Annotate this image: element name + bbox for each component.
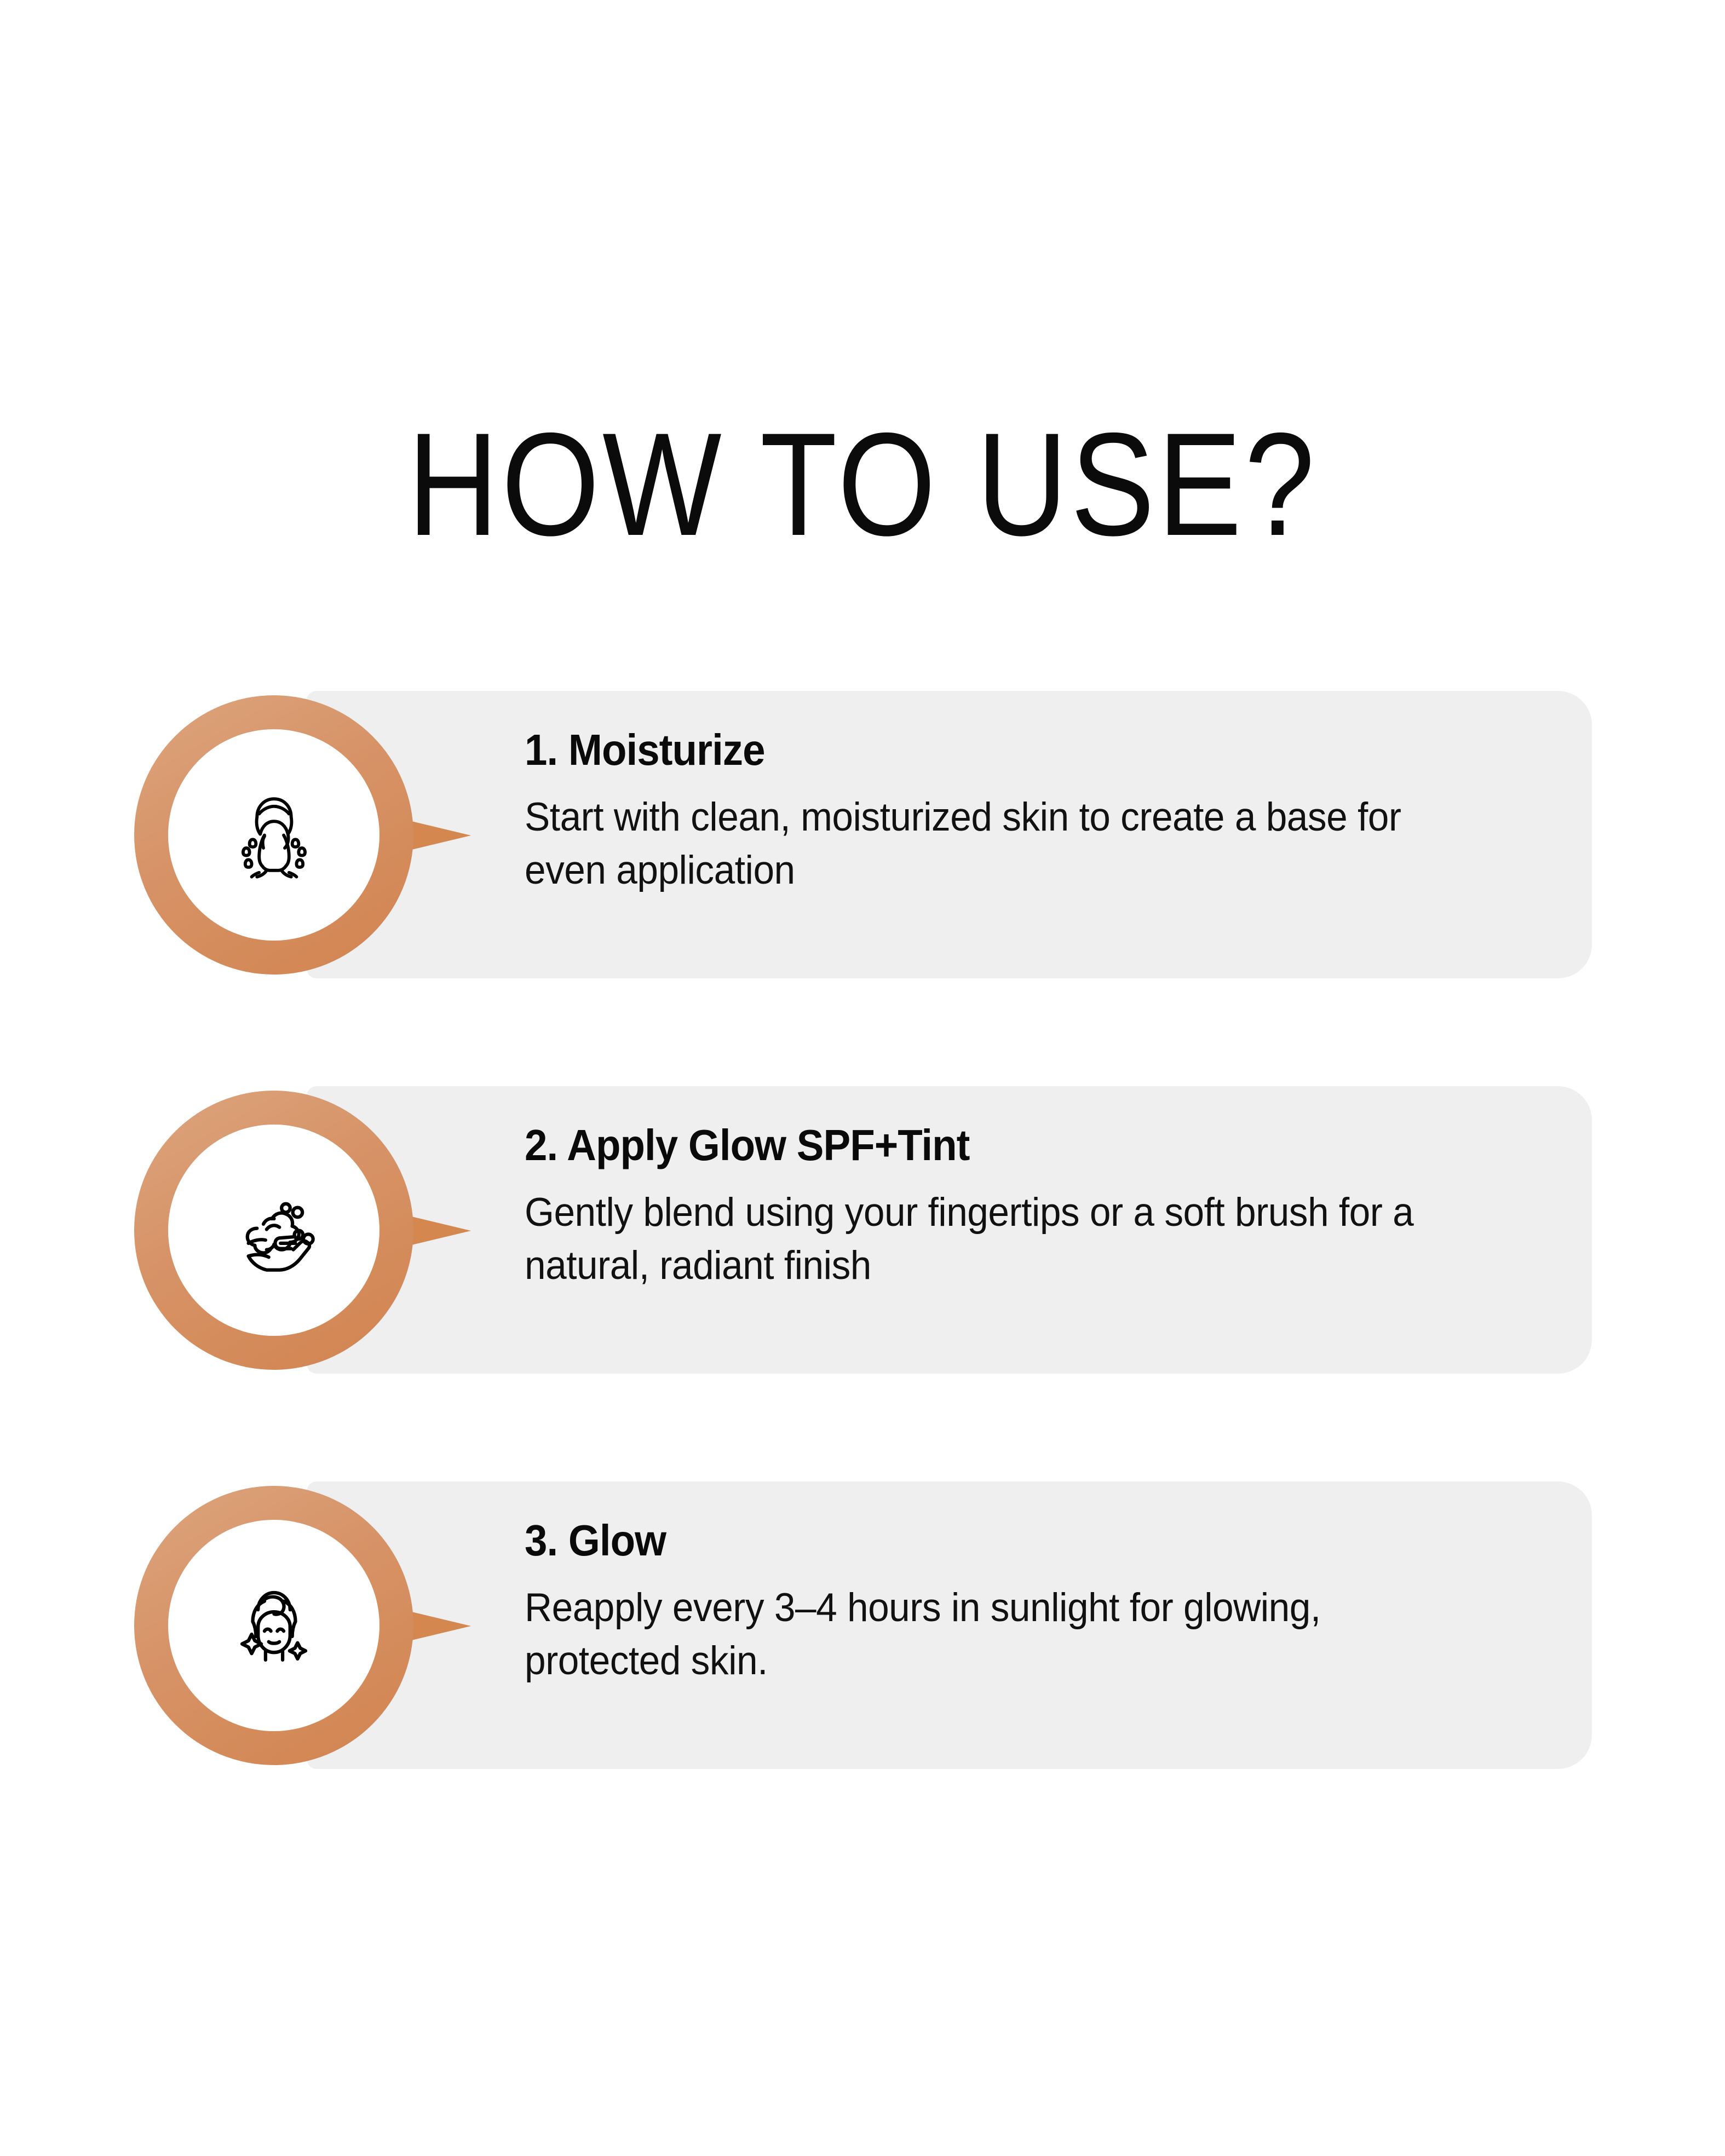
step-badge-inner (168, 1125, 380, 1336)
step-title: 1. Moisturize (525, 728, 1456, 772)
step-description: Gently blend using your fingertips or a … (525, 1186, 1476, 1292)
step-badge (134, 1091, 413, 1370)
hand-with-foam-icon (221, 1177, 327, 1284)
step-description: Reapply every 3–4 hours in sunlight for … (525, 1581, 1476, 1687)
face-wash-towel-icon (221, 782, 327, 889)
step-item: 2. Apply Glow SPF+Tint Gently blend usin… (0, 1086, 1725, 1374)
step-badge (134, 1486, 413, 1765)
page-title: HOW TO USE? (121, 411, 1605, 557)
step-item: 3. Glow Reapply every 3–4 hours in sunli… (0, 1481, 1725, 1769)
steps-list: 1. Moisturize Start with clean, moisturi… (0, 691, 1725, 1769)
step-badge-inner (168, 729, 380, 941)
step-card: 2. Apply Glow SPF+Tint Gently blend usin… (307, 1086, 1592, 1374)
glowing-face-sparkle-icon (221, 1572, 327, 1679)
step-badge (134, 695, 413, 975)
step-badge-inner (168, 1520, 380, 1731)
step-description: Start with clean, moisturized skin to cr… (525, 791, 1476, 897)
step-item: 1. Moisturize Start with clean, moisturi… (0, 691, 1725, 978)
step-title: 2. Apply Glow SPF+Tint (525, 1123, 1456, 1167)
step-card: 3. Glow Reapply every 3–4 hours in sunli… (307, 1481, 1592, 1769)
step-card: 1. Moisturize Start with clean, moisturi… (307, 691, 1592, 978)
step-title: 3. Glow (525, 1519, 1456, 1563)
